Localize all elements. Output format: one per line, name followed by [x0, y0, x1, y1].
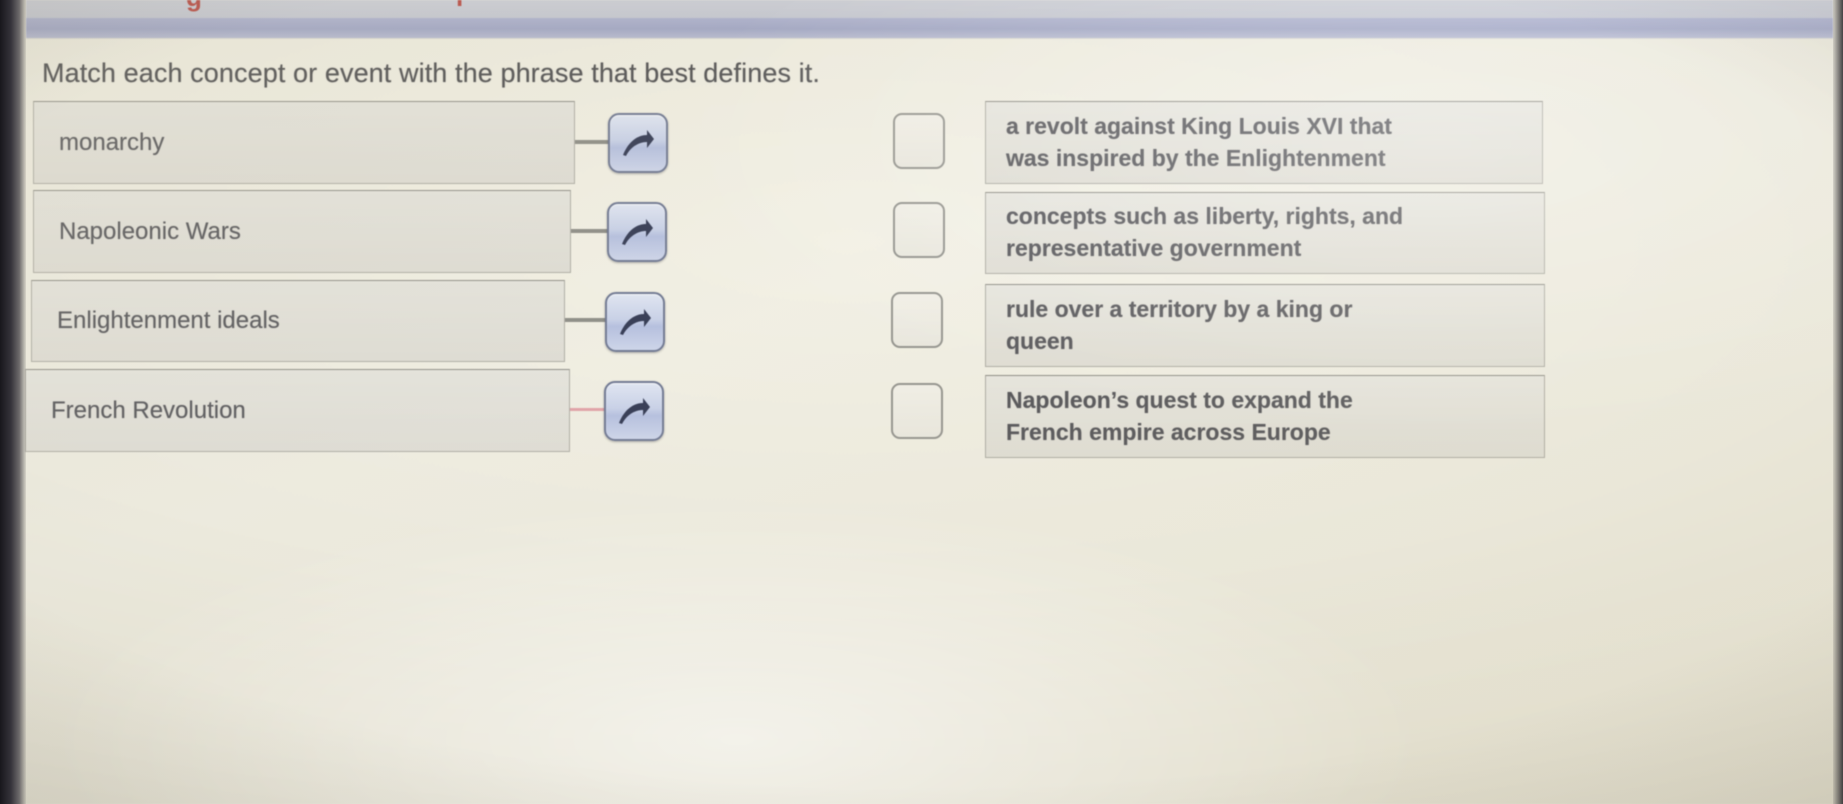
definition-line: was inspired by the Enlightenment: [1006, 143, 1542, 175]
term-label: monarchy: [59, 129, 164, 157]
curved-arrow-right-icon: [618, 307, 652, 337]
screenshot-root: g l Match each concept or event with the…: [0, 0, 1843, 804]
definition-line: French empire across Europe: [1006, 417, 1544, 449]
definition-line: rule over a territory by a king or: [1006, 294, 1544, 326]
term-box[interactable]: French Revolution: [25, 369, 570, 452]
definition-checkbox[interactable]: [893, 202, 945, 258]
curved-arrow-right-icon: [617, 396, 651, 426]
definition-box[interactable]: a revolt against King Louis XVI that was…: [985, 101, 1543, 184]
term-box[interactable]: monarchy: [33, 101, 575, 184]
match-arrow-button[interactable]: [605, 292, 665, 352]
connector-line: [571, 229, 609, 233]
curved-arrow-right-icon: [620, 217, 654, 247]
definition-line: Napoleon’s quest to expand the: [1006, 385, 1544, 417]
term-label: French Revolution: [51, 397, 246, 425]
definition-line: queen: [1006, 326, 1544, 358]
definition-box[interactable]: concepts such as liberty, rights, and re…: [985, 192, 1545, 274]
definition-checkbox[interactable]: [893, 113, 945, 169]
connector-line-selected: [570, 408, 606, 411]
term-box[interactable]: Napoleonic Wars: [33, 190, 571, 273]
definition-line: concepts such as liberty, rights, and: [1006, 201, 1544, 233]
definition-checkbox[interactable]: [891, 292, 943, 348]
curved-arrow-right-icon: [621, 128, 655, 158]
definition-line: a revolt against King Louis XVI that: [1006, 111, 1542, 143]
definition-checkbox[interactable]: [891, 383, 943, 439]
term-box[interactable]: Enlightenment ideals: [31, 280, 565, 362]
match-arrow-button[interactable]: [608, 113, 668, 173]
matching-exercise: monarchy Napoleonic Wars Enlightenment i: [0, 0, 1843, 804]
match-arrow-button[interactable]: [604, 381, 664, 441]
definition-line: representative government: [1006, 233, 1544, 265]
connector-line: [575, 140, 610, 144]
definition-box[interactable]: Napoleon’s quest to expand the French em…: [985, 375, 1545, 458]
definition-box[interactable]: rule over a territory by a king or queen: [985, 284, 1545, 367]
term-label: Napoleonic Wars: [59, 218, 241, 246]
quiz-page: g l Match each concept or event with the…: [0, 0, 1843, 804]
match-arrow-button[interactable]: [607, 202, 667, 262]
term-label: Enlightenment ideals: [57, 307, 280, 335]
connector-line: [565, 318, 608, 322]
